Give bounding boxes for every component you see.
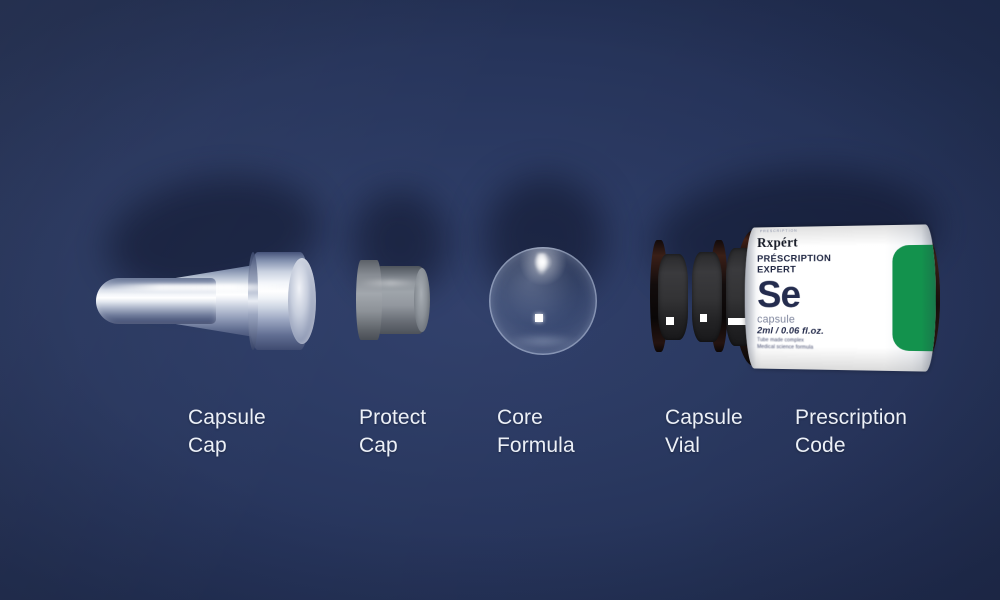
label-top-microtext: PRESCRIPTION (760, 229, 798, 234)
capsule-vial-part: PRESCRIPTION Rxpért PRÉSCRIPTION EXPERT … (648, 230, 940, 366)
cone-open-face (288, 258, 316, 344)
protect-cap-part (356, 256, 434, 344)
label-volume: 2ml / 0.06 fl.oz. (757, 326, 883, 338)
vial-highlight-dot (700, 314, 707, 322)
caption-core-formula: Core Formula (497, 404, 575, 459)
label-left-shading (745, 227, 756, 368)
label-text-stack: Rxpért PRÉSCRIPTION EXPERT Se capsule 2m… (757, 233, 883, 351)
sphere-caustic (508, 333, 577, 348)
cone-ring (248, 252, 258, 350)
caption-protect-cap: Protect Cap (359, 404, 426, 459)
caption-capsule-vial: Capsule Vial (665, 404, 743, 459)
cone-specular-highlight (106, 284, 286, 291)
protect-cap-flange (356, 260, 382, 340)
label-subtitle: PRÉSCRIPTION EXPERT (757, 254, 883, 276)
label-form: capsule (757, 314, 883, 327)
label-fine-print: Tube made complex Medical science formul… (757, 338, 883, 352)
label-code: Se (757, 278, 883, 313)
core-formula-sphere (489, 247, 597, 355)
caption-prescription-code: Prescription Code (795, 404, 907, 459)
protect-cap-highlight (360, 280, 422, 286)
prescription-label: PRESCRIPTION Rxpért PRÉSCRIPTION EXPERT … (745, 224, 936, 372)
label-right-shading (921, 224, 936, 372)
vial-highlight-dot (666, 317, 674, 325)
vial-thread-segment (658, 254, 688, 340)
sphere-specular-dot (535, 314, 543, 322)
caption-capsule-cap: Capsule Cap (188, 404, 266, 459)
product-exploded-view-scene: PRESCRIPTION Rxpért PRÉSCRIPTION EXPERT … (0, 0, 1000, 600)
capsule-cap-part (96, 248, 312, 352)
vial-thread-segment (692, 252, 722, 342)
label-brand: Rxpért (757, 233, 883, 251)
sphere-top-glint (535, 253, 548, 275)
protect-cap-face (414, 268, 430, 332)
